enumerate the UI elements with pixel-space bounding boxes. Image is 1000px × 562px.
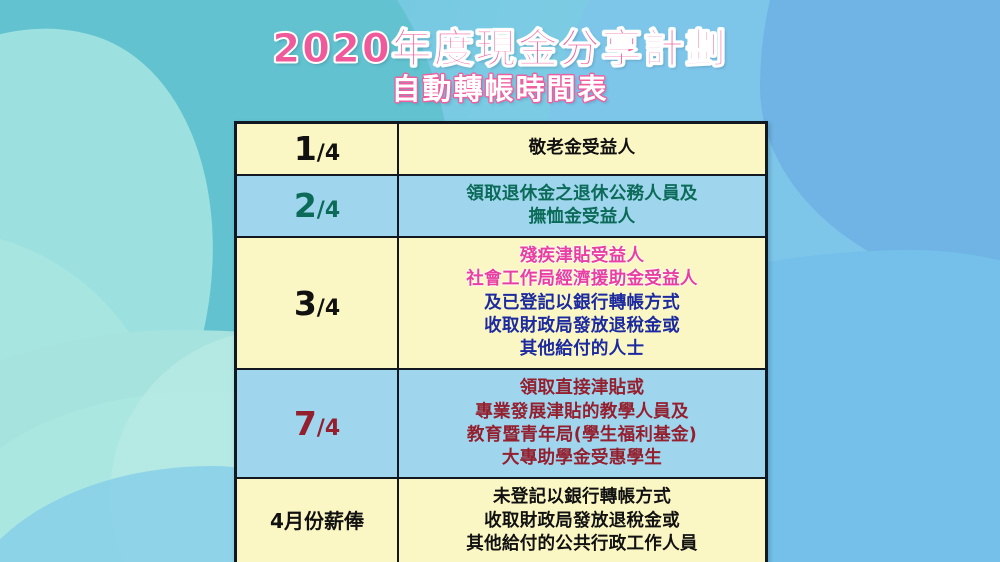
date-label: 1/4 xyxy=(237,128,397,169)
description-line: 收取財政局發放退稅金或 xyxy=(407,315,757,338)
table-body: 1/4 敬老金受益人 2/4 領取退休金之退休公務人員及 撫恤金受益人 xyxy=(236,123,767,562)
date-cell: 1/4 xyxy=(236,123,399,175)
table-row: 7/4 領取直接津貼或 專業發展津貼的教學人員及 教育暨青年局(學生福利基金) … xyxy=(236,369,767,478)
date-day: 1 xyxy=(294,129,317,168)
description-line: 領取直接津貼或 xyxy=(407,377,757,400)
table-row: 2/4 領取退休金之退休公務人員及 撫恤金受益人 xyxy=(236,175,767,238)
description-text: 敬老金受益人 xyxy=(399,130,765,167)
date-day: 3 xyxy=(294,284,317,323)
date-month: 4 xyxy=(325,416,340,441)
description-line: 大專助學金受惠學生 xyxy=(407,447,757,470)
date-cell: 3/4 xyxy=(236,237,399,369)
description-text: 領取直接津貼或 專業發展津貼的教學人員及 教育暨青年局(學生福利基金) 大專助學… xyxy=(399,370,765,477)
description-line: 敬老金受益人 xyxy=(407,137,757,160)
description-line: 教育暨青年局(學生福利基金) xyxy=(407,424,757,447)
date-cell: 2/4 xyxy=(236,175,399,238)
slide-canvas: 2020年度現金分享計劃 自動轉帳時間表 1/4 敬老金受益人 2/4 xyxy=(0,0,1000,562)
description-line: 撫恤金受益人 xyxy=(407,206,757,229)
description-line: 殘疾津貼受益人 xyxy=(407,245,757,268)
description-text: 殘疾津貼受益人 社會工作局經濟援助金受益人 及已登記以銀行轉帳方式 收取財政局發… xyxy=(399,238,765,368)
date-label: 2/4 xyxy=(237,185,397,226)
date-label: 3/4 xyxy=(237,283,397,324)
description-text: 領取退休金之退休公務人員及 撫恤金受益人 xyxy=(399,176,765,237)
description-cell: 殘疾津貼受益人 社會工作局經濟援助金受益人 及已登記以銀行轉帳方式 收取財政局發… xyxy=(398,237,767,369)
description-line: 未登記以銀行轉帳方式 xyxy=(407,486,757,509)
table-row: 4月份薪俸 未登記以銀行轉帳方式 收取財政局發放退稅金或 其他給付的公共行政工作… xyxy=(236,478,767,562)
description-text: 未登記以銀行轉帳方式 收取財政局發放退稅金或 其他給付的公共行政工作人員 xyxy=(399,479,765,562)
date-month: 4 xyxy=(325,141,340,166)
date-cell: 4月份薪俸 xyxy=(236,478,399,562)
description-cell: 敬老金受益人 xyxy=(398,123,767,175)
date-cell: 7/4 xyxy=(236,369,399,478)
date-slash: / xyxy=(317,296,325,321)
description-cell: 未登記以銀行轉帳方式 收取財政局發放退稅金或 其他給付的公共行政工作人員 xyxy=(398,478,767,562)
date-month: 4 xyxy=(325,198,340,223)
date-day: 2 xyxy=(294,186,317,225)
description-line: 收取財政局發放退稅金或 xyxy=(407,510,757,533)
date-label: 4月份薪俸 xyxy=(237,507,397,535)
title-block: 2020年度現金分享計劃 自動轉帳時間表 xyxy=(0,28,1000,106)
description-cell: 領取直接津貼或 專業發展津貼的教學人員及 教育暨青年局(學生福利基金) 大專助學… xyxy=(398,369,767,478)
description-line: 其他給付的公共行政工作人員 xyxy=(407,533,757,556)
description-line: 其他給付的人士 xyxy=(407,338,757,361)
date-slash: / xyxy=(317,198,325,223)
transfer-schedule-table: 1/4 敬老金受益人 2/4 領取退休金之退休公務人員及 撫恤金受益人 xyxy=(234,121,768,562)
date-month: 4 xyxy=(325,296,340,321)
date-day: 7 xyxy=(294,404,317,443)
page-title: 2020年度現金分享計劃 xyxy=(0,28,1000,70)
description-line: 社會工作局經濟援助金受益人 xyxy=(407,268,757,291)
date-label: 7/4 xyxy=(237,403,397,444)
description-line: 專業發展津貼的教學人員及 xyxy=(407,401,757,424)
description-line: 及已登記以銀行轉帳方式 xyxy=(407,292,757,315)
description-line: 領取退休金之退休公務人員及 xyxy=(407,183,757,206)
table-row: 3/4 殘疾津貼受益人 社會工作局經濟援助金受益人 及已登記以銀行轉帳方式 收取… xyxy=(236,237,767,369)
date-slash: / xyxy=(317,416,325,441)
page-subtitle: 自動轉帳時間表 xyxy=(0,74,1000,106)
table-row: 1/4 敬老金受益人 xyxy=(236,123,767,175)
date-slash: / xyxy=(317,141,325,166)
description-cell: 領取退休金之退休公務人員及 撫恤金受益人 xyxy=(398,175,767,238)
